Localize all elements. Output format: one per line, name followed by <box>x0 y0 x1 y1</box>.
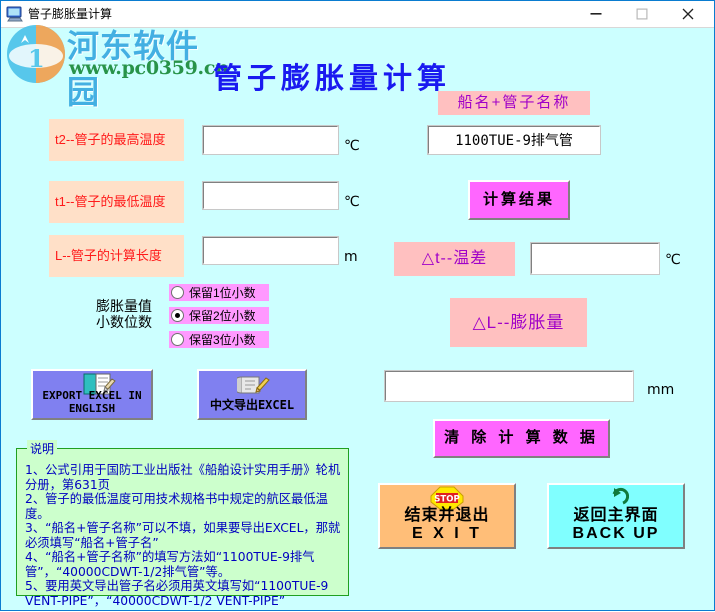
label-t1: t1--管子的最低温度 <box>49 181 184 223</box>
radio-decimals-3[interactable]: 保留3位小数 <box>169 331 269 348</box>
radio-label-3: 保留3位小数 <box>189 331 256 348</box>
radio-dot-icon <box>171 333 184 346</box>
input-delta-t[interactable] <box>531 243 659 274</box>
exit-button-label-cn: 结束并退出 <box>404 507 489 525</box>
radio-decimals-1[interactable]: 保留1位小数 <box>169 284 269 301</box>
unit-delta-t: ℃ <box>665 252 681 268</box>
watermark: 1 河东软件园 www.pc0359.cn <box>3 21 218 89</box>
label-delta-t: △t--温差 <box>394 242 515 276</box>
input-length-field[interactable] <box>204 238 337 263</box>
clear-data-button[interactable]: 清 除 计 算 数 据 <box>433 419 610 458</box>
minimize-button[interactable] <box>573 1 618 26</box>
window-title: 管子膨胀量计算 <box>28 5 112 22</box>
notes-groupbox: 说明 1、公式引用于国防工业出版社《船舶设计实用手册》轮机分册，第631页 2、… <box>16 448 349 596</box>
page-title: 管子膨胀量计算 <box>213 55 451 97</box>
calculate-button[interactable]: 计算结果 <box>468 180 570 220</box>
label-length: L--管子的计算长度 <box>49 235 184 277</box>
unit-t2: ℃ <box>344 138 360 154</box>
radio-dot-icon <box>171 286 184 299</box>
input-ship-pipe-name-field[interactable] <box>429 127 599 153</box>
svg-text:STOP: STOP <box>434 495 459 505</box>
back-up-button-label-en: BACK UP <box>573 525 660 543</box>
label-ship-pipe-name: 船名+管子名称 <box>438 91 590 115</box>
export-excel-chinese-button[interactable]: 中文导出EXCEL <box>197 369 307 420</box>
radio-label-2: 保留2位小数 <box>189 307 256 324</box>
label-t2: t2--管子的最高温度 <box>49 119 184 161</box>
write-doc-icon <box>237 373 273 400</box>
input-ship-pipe-name[interactable] <box>428 126 600 154</box>
export-excel-chinese-label: 中文导出EXCEL <box>210 399 294 412</box>
label-delta-l: △L--膨胀量 <box>450 298 587 347</box>
exit-button-label-en: E X I T <box>412 525 482 543</box>
notes-title: 说明 <box>27 440 57 457</box>
input-t1[interactable] <box>203 182 338 209</box>
app-window: 管子膨胀量计算 1 河东软件园 www.pc0359.cn 管子膨胀量计算 t2… <box>0 0 715 611</box>
input-t2[interactable] <box>203 126 338 154</box>
radio-label-1: 保留1位小数 <box>189 284 256 301</box>
back-up-button-label-cn: 返回主界面 <box>573 507 658 525</box>
radio-decimals-2[interactable]: 保留2位小数 <box>169 307 269 324</box>
back-up-button[interactable]: 返回主界面 BACK UP <box>547 483 685 549</box>
calculate-button-label: 计算结果 <box>483 192 555 209</box>
export-excel-english-button[interactable]: EXPORT EXCEL IN ENGLISH <box>31 369 153 420</box>
input-delta-l[interactable] <box>385 371 633 401</box>
site-url: www.pc0359.cn <box>69 57 229 79</box>
unit-delta-l: mm <box>647 382 674 398</box>
close-button[interactable] <box>665 1 710 26</box>
radio-dot-icon <box>171 309 184 322</box>
unit-length: m <box>344 249 358 265</box>
computer-icon <box>6 6 24 22</box>
exit-button[interactable]: STOP 结束并退出 E X I T <box>378 483 516 549</box>
input-delta-l-field[interactable] <box>386 372 632 400</box>
unit-t1: ℃ <box>344 194 360 210</box>
input-length[interactable] <box>203 237 338 264</box>
input-delta-t-field[interactable] <box>532 244 658 273</box>
input-t2-field[interactable] <box>204 127 337 153</box>
maximize-button[interactable] <box>619 1 664 26</box>
svg-text:1: 1 <box>28 44 45 73</box>
input-t1-field[interactable] <box>204 183 337 208</box>
site-logo-icon: 1 <box>5 23 67 85</box>
export-excel-english-label: EXPORT EXCEL IN ENGLISH <box>33 390 151 415</box>
notes-body: 1、公式引用于国防工业出版社《船舶设计实用手册》轮机分册，第631页 2、管子的… <box>17 449 348 612</box>
clear-data-button-label: 清 除 计 算 数 据 <box>444 430 599 447</box>
decimals-caption: 膨胀量值 小数位数 <box>84 295 164 335</box>
